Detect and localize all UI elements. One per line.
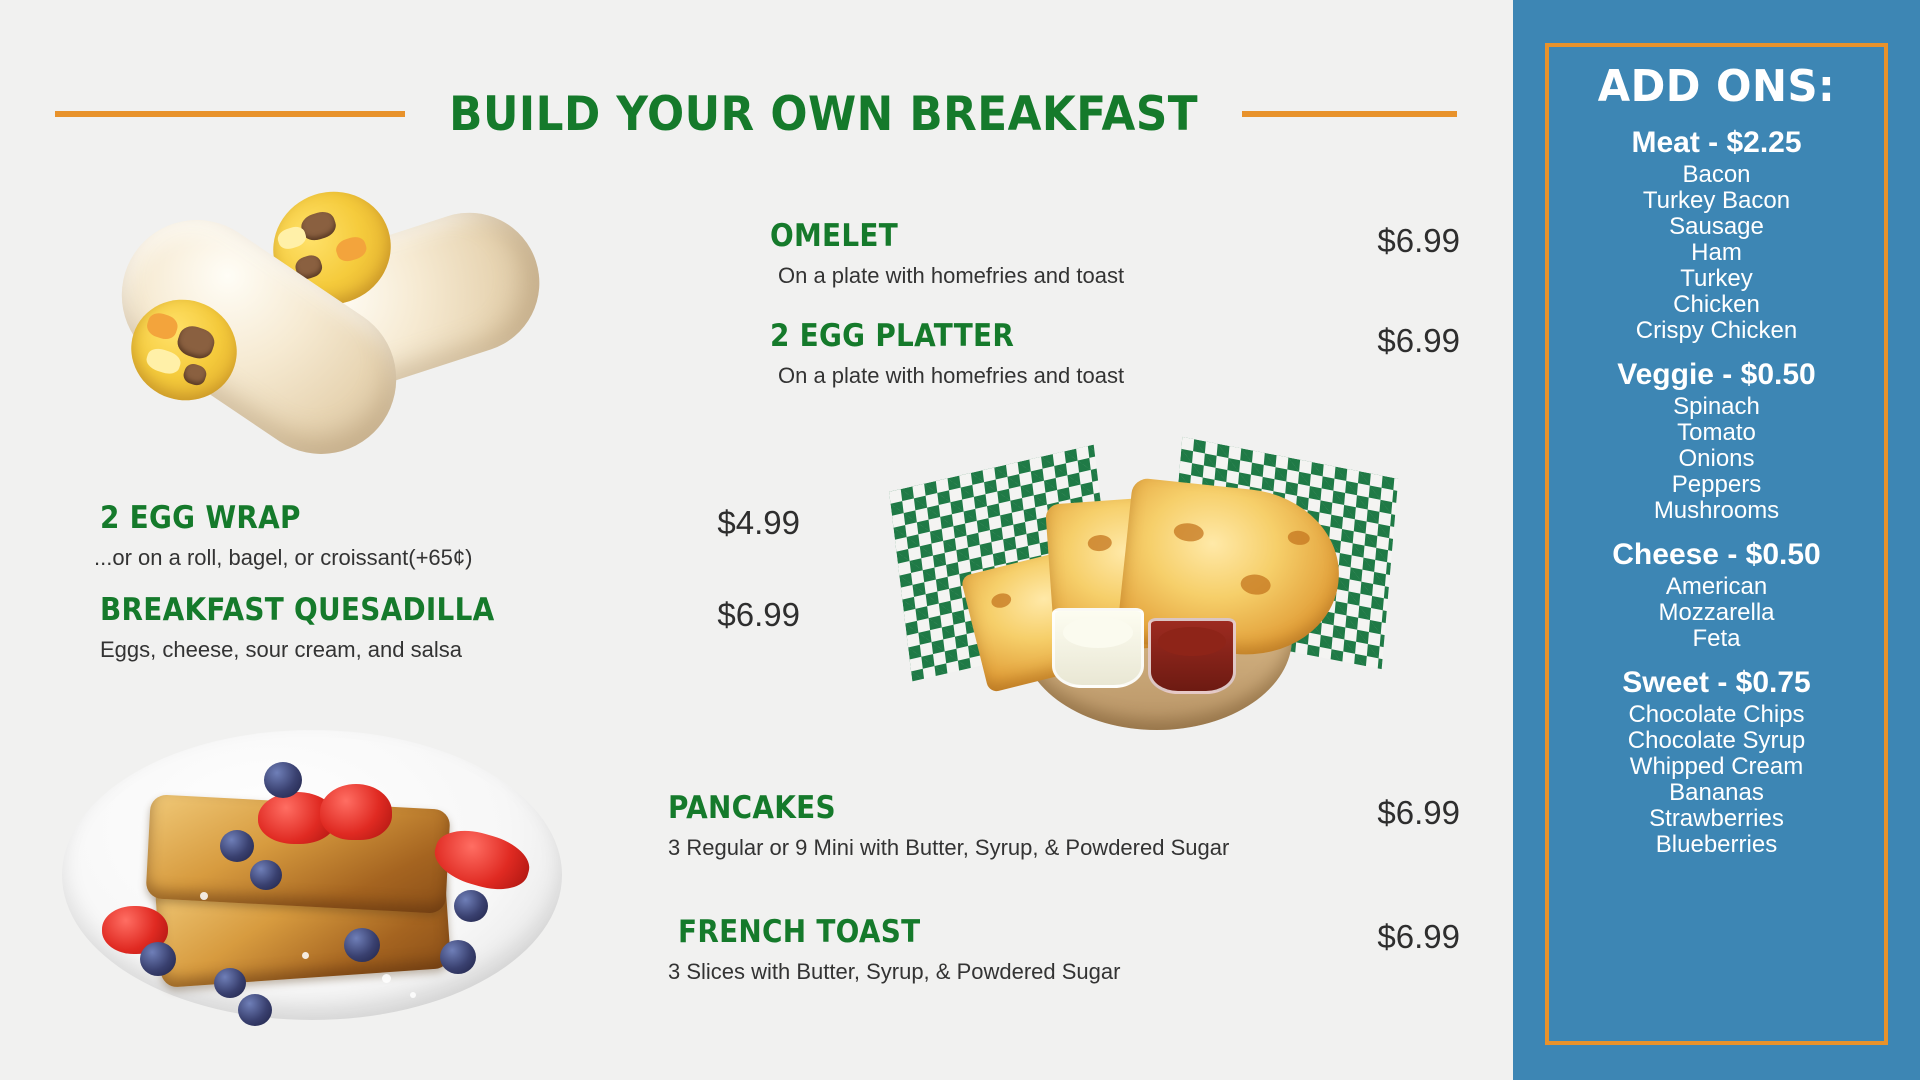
item-price: $6.99 — [717, 596, 800, 634]
item-name: 2 EGG WRAP — [100, 500, 656, 536]
addon-category-head: Sweet - $0.75 — [1555, 666, 1878, 700]
addon-item: Whipped Cream — [1555, 754, 1878, 780]
addon-item: Mushrooms — [1555, 498, 1878, 524]
addon-category-meat: Meat - $2.25 Bacon Turkey Bacon Sausage … — [1555, 126, 1878, 344]
addon-item: Peppers — [1555, 472, 1878, 498]
menu-item-omelet: OMELET On a plate with homefries and toa… — [770, 218, 1460, 289]
item-name: 2 EGG PLATTER — [770, 318, 1317, 354]
addon-category-head: Meat - $2.25 — [1555, 126, 1878, 160]
addon-item: American — [1555, 574, 1878, 600]
item-name: FRENCH TOAST — [678, 914, 1307, 950]
item-description: On a plate with homefries and toast — [778, 263, 1377, 289]
addon-item: Crispy Chicken — [1555, 318, 1878, 344]
addon-item: Feta — [1555, 626, 1878, 652]
menu-board: BUILD YOUR OWN BREAKFAST OMELET — [0, 0, 1920, 1080]
addon-item: Ham — [1555, 240, 1878, 266]
item-description: On a plate with homefries and toast — [778, 363, 1377, 389]
add-ons-title: ADD ONS: — [1563, 61, 1870, 112]
item-price: $6.99 — [1377, 322, 1460, 360]
addon-item: Turkey — [1555, 266, 1878, 292]
addon-item: Chocolate Syrup — [1555, 728, 1878, 754]
menu-item-breakfast-quesadilla: BREAKFAST QUESADILLA Eggs, cheese, sour … — [100, 592, 800, 663]
addon-category-cheese: Cheese - $0.50 American Mozzarella Feta — [1555, 538, 1878, 652]
item-description: ...or on a roll, bagel, or croissant(+65… — [94, 545, 717, 571]
title-rule-left — [55, 111, 405, 117]
item-name: BREAKFAST QUESADILLA — [100, 592, 656, 628]
addon-item: Strawberries — [1555, 806, 1878, 832]
title-rule-right — [1242, 111, 1457, 117]
board-title-row: BUILD YOUR OWN BREAKFAST — [0, 78, 1460, 150]
breakfast-wrap-photo — [105, 150, 555, 410]
menu-item-2-egg-wrap: 2 EGG WRAP ...or on a roll, bagel, or cr… — [100, 500, 800, 571]
addon-item: Bananas — [1555, 780, 1878, 806]
page-title: BUILD YOUR OWN BREAKFAST — [449, 87, 1198, 142]
addon-category-sweet: Sweet - $0.75 Chocolate Chips Chocolate … — [1555, 666, 1878, 858]
addon-item: Turkey Bacon — [1555, 188, 1878, 214]
addon-item: Blueberries — [1555, 832, 1878, 858]
breakfast-quesadilla-basket-photo — [862, 432, 1422, 742]
addon-category-veggie: Veggie - $0.50 Spinach Tomato Onions Pep… — [1555, 358, 1878, 524]
item-description: 3 Slices with Butter, Syrup, & Powdered … — [668, 959, 1377, 985]
item-description: Eggs, cheese, sour cream, and salsa — [100, 637, 717, 663]
menu-item-french-toast: FRENCH TOAST 3 Slices with Butter, Syrup… — [668, 914, 1460, 985]
item-name: OMELET — [770, 218, 1317, 254]
addon-category-head: Veggie - $0.50 — [1555, 358, 1878, 392]
add-ons-panel: ADD ONS: Meat - $2.25 Bacon Turkey Bacon… — [1513, 0, 1920, 1080]
addon-item: Sausage — [1555, 214, 1878, 240]
addon-item: Chicken — [1555, 292, 1878, 318]
add-ons-content: ADD ONS: Meat - $2.25 Bacon Turkey Bacon… — [1545, 43, 1888, 1045]
addon-item: Mozzarella — [1555, 600, 1878, 626]
addon-item: Tomato — [1555, 420, 1878, 446]
item-price: $6.99 — [1377, 794, 1460, 832]
addon-category-head: Cheese - $0.50 — [1555, 538, 1878, 572]
item-price: $4.99 — [717, 504, 800, 542]
menu-item-pancakes: PANCAKES 3 Regular or 9 Mini with Butter… — [668, 790, 1460, 861]
french-toast-plate-photo — [62, 706, 562, 1026]
item-price: $6.99 — [1377, 222, 1460, 260]
main-menu-panel: BUILD YOUR OWN BREAKFAST OMELET — [0, 0, 1513, 1080]
addon-item: Spinach — [1555, 394, 1878, 420]
item-price: $6.99 — [1377, 918, 1460, 956]
item-name: PANCAKES — [668, 790, 1306, 826]
addon-item: Onions — [1555, 446, 1878, 472]
menu-item-2-egg-platter: 2 EGG PLATTER On a plate with homefries … — [770, 318, 1460, 389]
item-description: 3 Regular or 9 Mini with Butter, Syrup, … — [668, 835, 1377, 861]
addon-item: Chocolate Chips — [1555, 702, 1878, 728]
addon-item: Bacon — [1555, 162, 1878, 188]
